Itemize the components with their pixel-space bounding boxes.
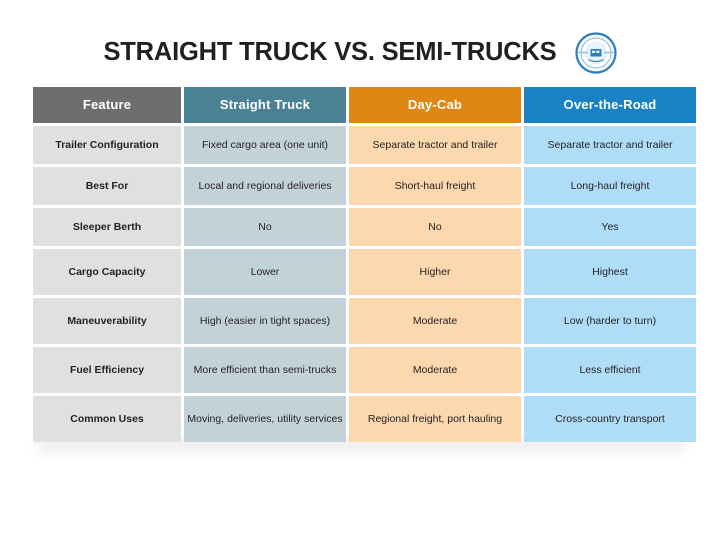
cell-day-cab: Moderate	[349, 298, 521, 344]
cell-day-cab: Short-haul freight	[349, 167, 521, 205]
cell-over-the-road: Low (harder to turn)	[524, 298, 696, 344]
row-feature-label: Trailer Configuration	[33, 126, 181, 164]
page-title: STRAIGHT TRUCK VS. SEMI-TRUCKS	[103, 40, 556, 66]
cell-over-the-road: Long-haul freight	[524, 167, 696, 205]
cell-straight-truck: Lower	[184, 249, 346, 295]
cell-day-cab: Moderate	[349, 347, 521, 393]
table-row: Maneuverability High (easier in tight sp…	[33, 298, 696, 344]
comparison-table: Feature Straight Truck Day-Cab Over-the-…	[30, 84, 699, 445]
table-row: Best For Local and regional deliveries S…	[33, 167, 696, 205]
cell-over-the-road: Separate tractor and trailer	[524, 126, 696, 164]
comparison-table-wrapper: Feature Straight Truck Day-Cab Over-the-…	[30, 84, 690, 445]
cell-over-the-road: Highest	[524, 249, 696, 295]
cell-over-the-road: Less efficient	[524, 347, 696, 393]
circular-badge-logo	[575, 32, 617, 74]
cell-day-cab: Separate tractor and trailer	[349, 126, 521, 164]
cell-straight-truck: More efficient than semi-trucks	[184, 347, 346, 393]
cell-over-the-road: Yes	[524, 208, 696, 246]
table-row: Common Uses Moving, deliveries, utility …	[33, 396, 696, 442]
row-feature-label: Sleeper Berth	[33, 208, 181, 246]
cell-day-cab: Higher	[349, 249, 521, 295]
cell-straight-truck: Fixed cargo area (one unit)	[184, 126, 346, 164]
table-row: Sleeper Berth No No Yes	[33, 208, 696, 246]
table-row: Trailer Configuration Fixed cargo area (…	[33, 126, 696, 164]
title-row: STRAIGHT TRUCK VS. SEMI-TRUCKS	[0, 28, 720, 78]
table-row: Fuel Efficiency More efficient than semi…	[33, 347, 696, 393]
cell-straight-truck: High (easier in tight spaces)	[184, 298, 346, 344]
cell-day-cab: No	[349, 208, 521, 246]
row-feature-label: Fuel Efficiency	[33, 347, 181, 393]
table-header-row: Feature Straight Truck Day-Cab Over-the-…	[33, 87, 696, 123]
row-feature-label: Maneuverability	[33, 298, 181, 344]
row-feature-label: Cargo Capacity	[33, 249, 181, 295]
row-feature-label: Common Uses	[33, 396, 181, 442]
table-row: Cargo Capacity Lower Higher Highest	[33, 249, 696, 295]
cell-straight-truck: Local and regional deliveries	[184, 167, 346, 205]
cell-straight-truck: No	[184, 208, 346, 246]
table-body: Trailer Configuration Fixed cargo area (…	[33, 126, 696, 442]
column-header-straight-truck: Straight Truck	[184, 87, 346, 123]
column-header-over-the-road: Over-the-Road	[524, 87, 696, 123]
cell-over-the-road: Cross-country transport	[524, 396, 696, 442]
cell-straight-truck: Moving, deliveries, utility services	[184, 396, 346, 442]
cell-day-cab: Regional freight, port hauling	[349, 396, 521, 442]
column-header-feature: Feature	[33, 87, 181, 123]
row-feature-label: Best For	[33, 167, 181, 205]
column-header-day-cab: Day-Cab	[349, 87, 521, 123]
comparison-poster: STRAIGHT TRUCK VS. SEMI-TRUCKS Feature	[0, 0, 720, 539]
